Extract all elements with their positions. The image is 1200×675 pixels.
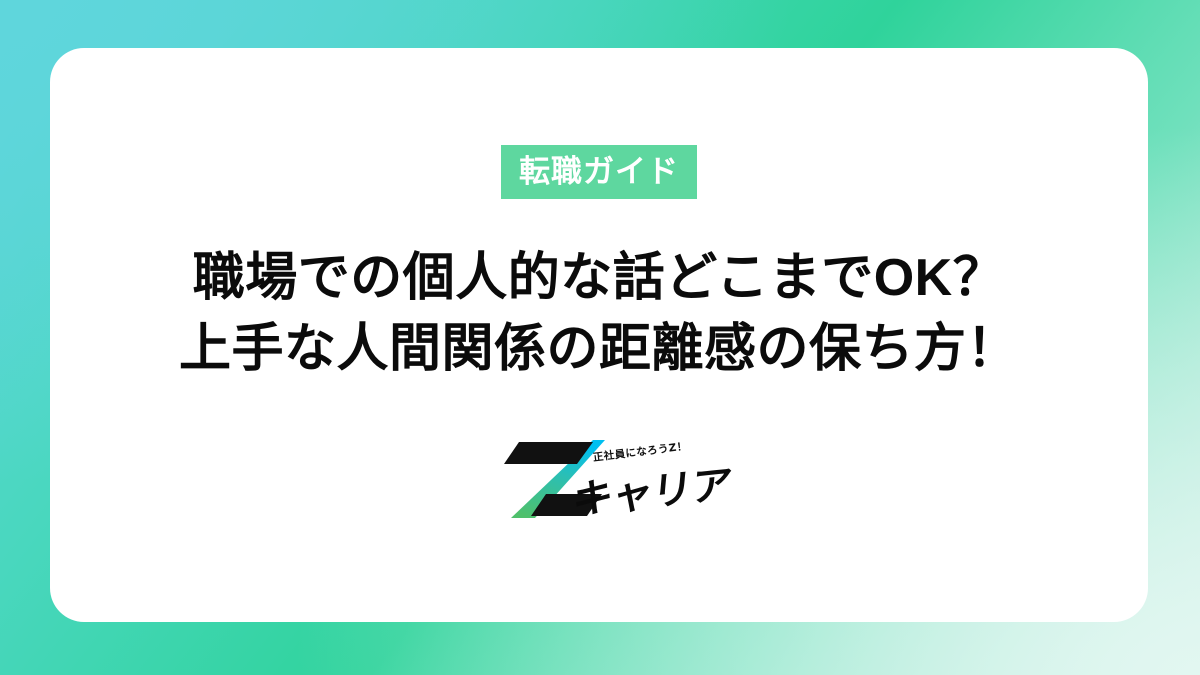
page-title-line-2: 上手な人間関係の距離感の保ち方！ (179, 314, 1019, 385)
page-title: 職場での個人的な話どこまでOK？ 上手な人間関係の距離感の保ち方！ (179, 243, 1019, 384)
thumbnail-canvas: 転職ガイド 職場での個人的な話どこまでOK？ 上手な人間関係の距離感の保ち方！ (0, 0, 1200, 675)
page-title-line-1: 職場での個人的な話どこまでOK？ (179, 243, 1019, 314)
content-card: 転職ガイド 職場での個人的な話どこまでOK？ 上手な人間関係の距離感の保ち方！ (50, 48, 1148, 622)
category-badge: 転職ガイド (501, 145, 697, 199)
brand-logo: 正社員になろうZ！ キャリア (501, 438, 697, 520)
